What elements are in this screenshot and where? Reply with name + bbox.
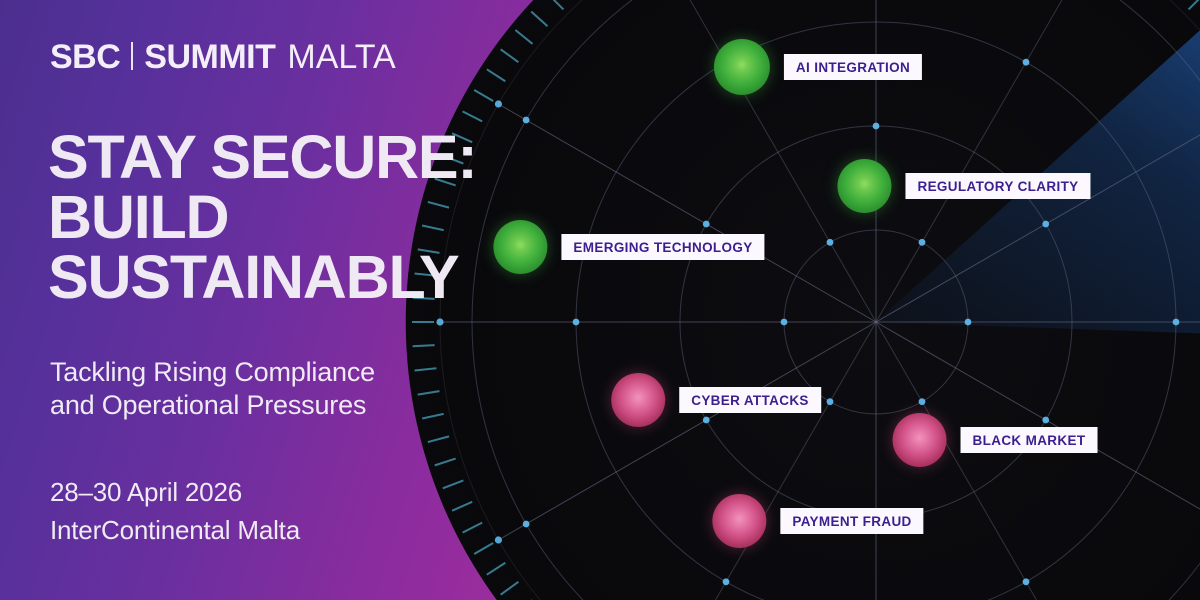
radar-node[interactable]: EMERGING TECHNOLOGY [493,220,764,274]
radar-node-label[interactable]: AI INTEGRATION [784,54,922,81]
radar-node[interactable]: PAYMENT FRAUD [712,494,923,548]
subtitle: Tackling Rising Compliance and Operation… [50,356,520,422]
radar-node[interactable]: REGULATORY CLARITY [837,159,1090,213]
threat-blob-icon [712,494,766,548]
poster-content: SBC SUMMIT MALTA Stay Secure: Build Sust… [0,0,760,600]
opportunity-blob-icon [837,159,891,213]
radar-node[interactable]: BLACK MARKET [893,413,1098,467]
event-venue: InterContinental Malta [50,512,520,550]
threat-blob-icon [611,373,665,427]
logo-sbc: SBC [50,38,120,77]
subtitle-line-2: and Operational Pressures [50,389,520,422]
radar-node-label[interactable]: BLACK MARKET [961,427,1098,454]
opportunity-blob-icon [714,39,770,95]
logo-malta: MALTA [287,38,395,77]
radar-node-label[interactable]: PAYMENT FRAUD [780,508,923,535]
event-details: 28–30 April 2026 InterContinental Malta [50,474,520,549]
radar-node-label[interactable]: CYBER ATTACKS [679,387,821,414]
brand-logo: SBC SUMMIT MALTA [50,38,396,77]
logo-summit: SUMMIT [144,38,275,77]
opportunity-blob-icon [493,220,547,274]
event-dates: 28–30 April 2026 [50,474,520,512]
radar-node-label[interactable]: EMERGING TECHNOLOGY [561,234,764,261]
radar-node[interactable]: AI INTEGRATION [714,39,922,95]
poster-canvas: SBC SUMMIT MALTA Stay Secure: Build Sust… [0,0,1200,600]
vertical-bar-icon [131,42,133,70]
headline-line-1: Stay Secure: [48,128,648,188]
subtitle-line-1: Tackling Rising Compliance [50,356,520,389]
radar-node-label[interactable]: REGULATORY CLARITY [905,173,1090,200]
page-title: Stay Secure: Build Sustainably [48,128,648,307]
threat-blob-icon [893,413,947,467]
radar-node[interactable]: CYBER ATTACKS [611,373,821,427]
